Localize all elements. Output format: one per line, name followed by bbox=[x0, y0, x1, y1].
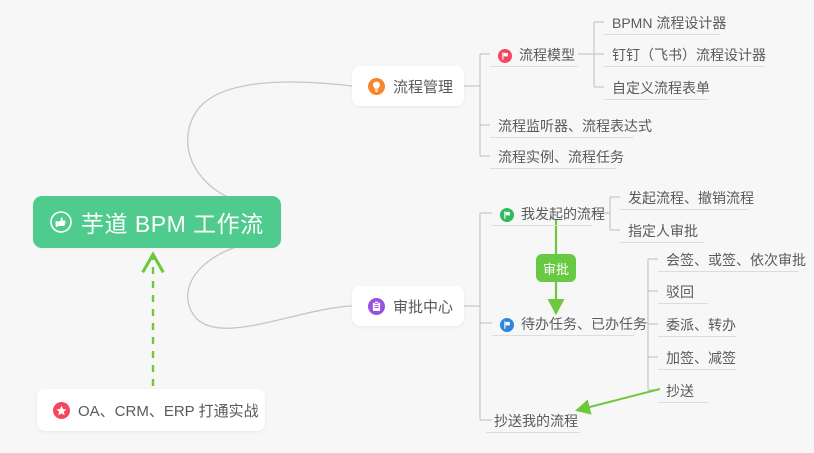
node-approval-center-label: 审批中心 bbox=[393, 296, 453, 317]
node-dingtalk-designer[interactable]: 钉钉（飞书）流程设计器 bbox=[604, 40, 764, 67]
node-reject[interactable]: 驳回 bbox=[658, 277, 708, 304]
node-approval-center[interactable]: 审批中心 bbox=[352, 286, 464, 326]
flag-icon bbox=[498, 49, 512, 63]
node-process-listener-label: 流程监听器、流程表达式 bbox=[498, 118, 652, 134]
node-integration-practice[interactable]: OA、CRM、ERP 打通实战 bbox=[37, 389, 265, 431]
flag-icon bbox=[500, 208, 514, 222]
node-process-management-label: 流程管理 bbox=[393, 76, 453, 97]
node-todo-done-tasks[interactable]: 待办任务、已办任务 bbox=[492, 309, 634, 336]
node-process-listener[interactable]: 流程监听器、流程表达式 bbox=[490, 111, 634, 138]
node-my-started-process[interactable]: 我发起的流程 bbox=[492, 199, 592, 226]
node-process-management[interactable]: 流程管理 bbox=[352, 66, 464, 106]
annotation-chip-approve: 审批 bbox=[536, 254, 576, 282]
node-process-instance-label: 流程实例、流程任务 bbox=[498, 149, 624, 165]
root-node-label: 芋道 BPM 工作流 bbox=[81, 205, 264, 239]
flag-icon bbox=[500, 318, 514, 332]
node-todo-done-tasks-label: 待办任务、已办任务 bbox=[521, 316, 647, 332]
mindmap-canvas: 芋道 BPM 工作流 流程管理 审批中心 bbox=[0, 0, 814, 453]
node-add-remove-sign-label: 加签、减签 bbox=[666, 350, 736, 366]
node-countersign-label: 会签、或签、依次审批 bbox=[666, 252, 806, 268]
node-cc-to-me-process-label: 抄送我的流程 bbox=[494, 413, 578, 429]
node-delegate-transfer[interactable]: 委派、转办 bbox=[658, 310, 736, 337]
node-assignee-approval[interactable]: 指定人审批 bbox=[620, 216, 704, 243]
node-countersign[interactable]: 会签、或签、依次审批 bbox=[658, 245, 798, 272]
node-start-cancel-process[interactable]: 发起流程、撤销流程 bbox=[620, 183, 748, 210]
lightbulb-icon bbox=[368, 78, 385, 95]
node-integration-practice-label: OA、CRM、ERP 打通实战 bbox=[78, 400, 259, 421]
node-start-cancel-process-label: 发起流程、撤销流程 bbox=[628, 190, 754, 206]
connector-root-to-approval-center bbox=[188, 238, 352, 328]
clipboard-icon bbox=[368, 298, 385, 315]
node-bpmn-designer-label: BPMN 流程设计器 bbox=[612, 15, 726, 31]
connector-root-to-process-mgmt bbox=[188, 82, 352, 210]
arrow-cc-to-ccme bbox=[578, 389, 660, 410]
star-icon bbox=[53, 402, 70, 419]
node-my-started-process-label: 我发起的流程 bbox=[521, 206, 605, 222]
node-add-remove-sign[interactable]: 加签、减签 bbox=[658, 343, 736, 370]
node-custom-form-label: 自定义流程表单 bbox=[612, 80, 710, 96]
node-cc-label: 抄送 bbox=[666, 383, 694, 399]
node-custom-form[interactable]: 自定义流程表单 bbox=[604, 73, 708, 100]
node-bpmn-designer[interactable]: BPMN 流程设计器 bbox=[604, 8, 720, 35]
annotation-chip-approve-label: 审批 bbox=[543, 259, 569, 278]
node-reject-label: 驳回 bbox=[666, 284, 694, 300]
node-cc-to-me-process[interactable]: 抄送我的流程 bbox=[486, 406, 580, 433]
node-delegate-transfer-label: 委派、转办 bbox=[666, 317, 736, 333]
node-process-instance[interactable]: 流程实例、流程任务 bbox=[490, 142, 616, 169]
node-process-model-label: 流程模型 bbox=[519, 47, 575, 63]
thumbs-up-icon bbox=[50, 211, 72, 233]
node-cc[interactable]: 抄送 bbox=[658, 376, 708, 403]
root-node[interactable]: 芋道 BPM 工作流 bbox=[33, 196, 281, 248]
node-process-model[interactable]: 流程模型 bbox=[490, 40, 578, 67]
node-assignee-approval-label: 指定人审批 bbox=[628, 223, 698, 239]
node-dingtalk-designer-label: 钉钉（飞书）流程设计器 bbox=[612, 47, 766, 63]
